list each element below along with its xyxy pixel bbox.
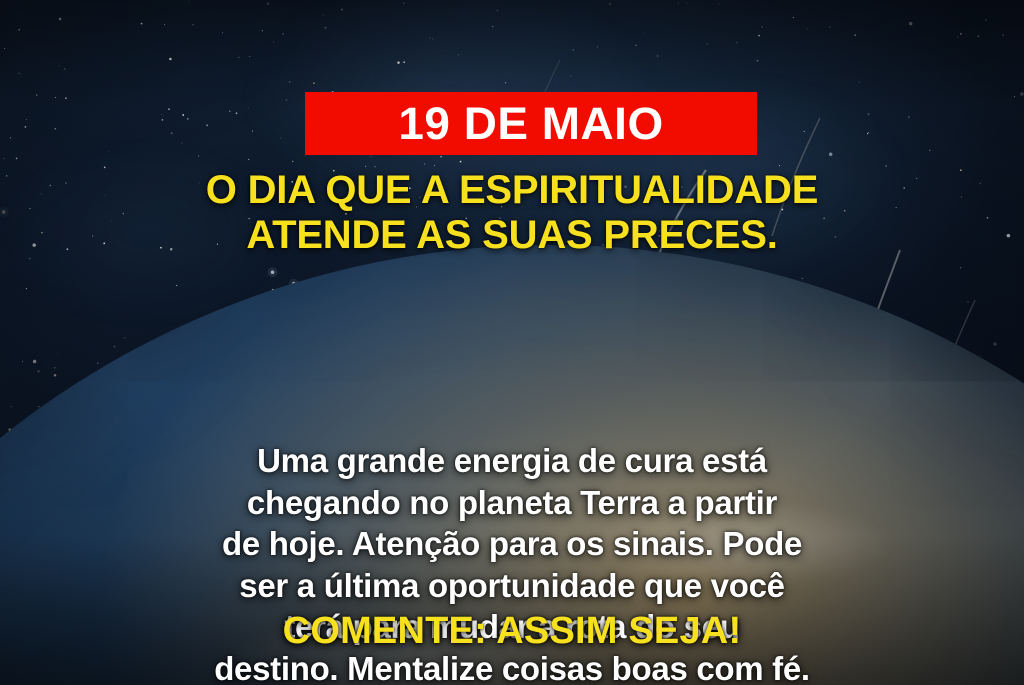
date-banner: 19 DE MAIO [305,92,757,155]
headline: O DIA QUE A ESPIRITUALIDADE ATENDE AS SU… [0,168,1024,258]
poster-content: 19 DE MAIO O DIA QUE A ESPIRITUALIDADE A… [0,0,1024,685]
body-line-1: Uma grande energia de cura está [62,440,962,482]
headline-line-1: O DIA QUE A ESPIRITUALIDADE [0,168,1024,213]
headline-line-2: ATENDE AS SUAS PRECES. [0,213,1024,258]
date-banner-label: 19 DE MAIO [398,101,663,146]
body-line-3: de hoje. Atenção para os sinais. Pode [62,523,962,565]
body-line-6: destino. Mentalize coisas boas com fé. [62,648,962,685]
body-line-2: chegando no planeta Terra a partir [62,482,962,524]
poster-canvas: 19 DE MAIO O DIA QUE A ESPIRITUALIDADE A… [0,0,1024,685]
call-to-action-text: COMENTE: ASSIM SEJA! [0,611,1024,653]
body-line-4: ser a última oportunidade que você [62,565,962,607]
